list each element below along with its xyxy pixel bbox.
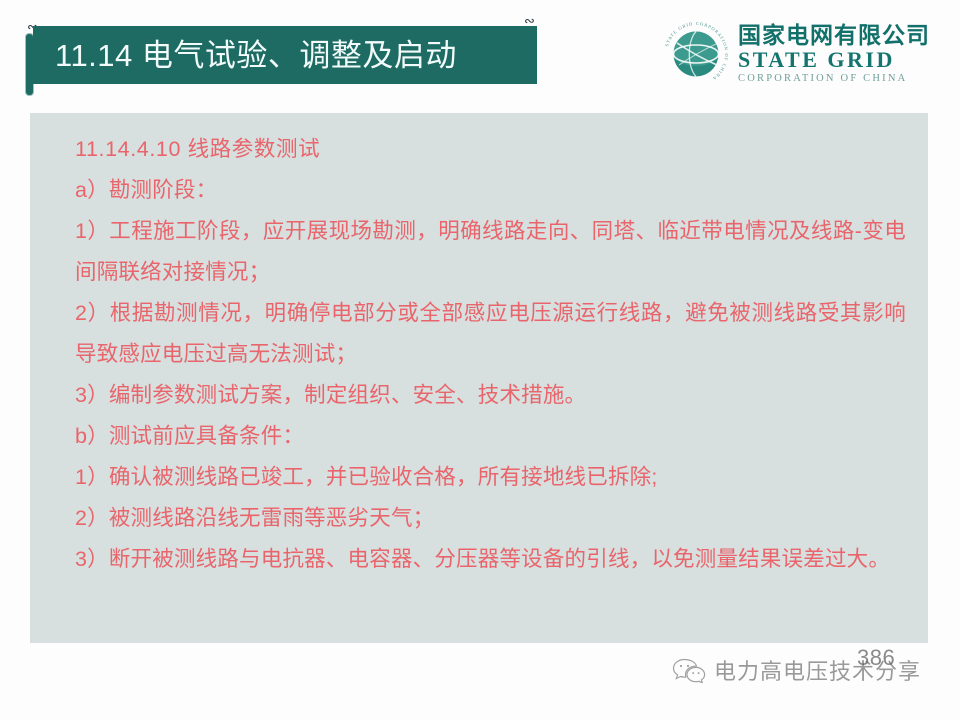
state-grid-logo: STATE GRID CORPORATION OF CHINA 国家电网有限公司…: [663, 18, 948, 90]
wechat-icon: [672, 657, 706, 683]
content-paragraph: 2）被测线路沿线无雷雨等恶劣天气；: [75, 498, 906, 539]
content-paragraph: 2）根据勘测情况，明确停电部分或全部感应电压源运行线路，避免被测线路受其影响导致…: [75, 293, 906, 375]
content-text-block: 11.14.4.10 线路参数测试 a）勘测阶段： 1）工程施工阶段，应开展现场…: [75, 129, 906, 580]
page-title: 11.14 电气试验、调整及启动: [55, 40, 457, 71]
slide-canvas: ∾ ∾ 11.14 电气试验、调整及启动 STATE GRID CORPORAT…: [0, 0, 960, 720]
watermark-text: 电力高电压技术分享: [714, 654, 921, 686]
content-paragraph: b）测试前应具备条件：: [75, 416, 906, 457]
logo-english-subtitle: CORPORATION OF CHINA: [738, 74, 930, 85]
content-paragraph: 1）确认被测线路已竣工，并已验收合格，所有接地线已拆除;: [75, 457, 906, 498]
content-paragraph: 1）工程施工阶段，应开展现场勘测，明确线路走向、同塔、临近带电情况及线路-变电间…: [75, 211, 906, 293]
logo-english-name: STATE GRID: [738, 49, 930, 71]
state-grid-globe-mark-icon: STATE GRID CORPORATION OF CHINA: [663, 21, 729, 87]
footer-watermark: 电力高电压技术分享: [672, 654, 921, 686]
slide-content-panel: 11.14.4.10 线路参数测试 a）勘测阶段： 1）工程施工阶段，应开展现场…: [30, 113, 928, 643]
logo-chinese-name: 国家电网有限公司: [738, 24, 930, 47]
content-heading: 11.14.4.10 线路参数测试: [75, 129, 906, 170]
content-paragraph: a）勘测阶段：: [75, 170, 906, 211]
state-grid-wordmark: 国家电网有限公司 STATE GRID CORPORATION OF CHINA: [738, 24, 930, 85]
slide-title-banner: 11.14 电气试验、调整及启动: [33, 26, 537, 84]
content-paragraph: 3）编制参数测试方案，制定组织、安全、技术措施。: [75, 375, 906, 416]
content-paragraph: 3）断开被测线路与电抗器、电容器、分压器等设备的引线，以免测量结果误差过大。: [75, 539, 906, 580]
